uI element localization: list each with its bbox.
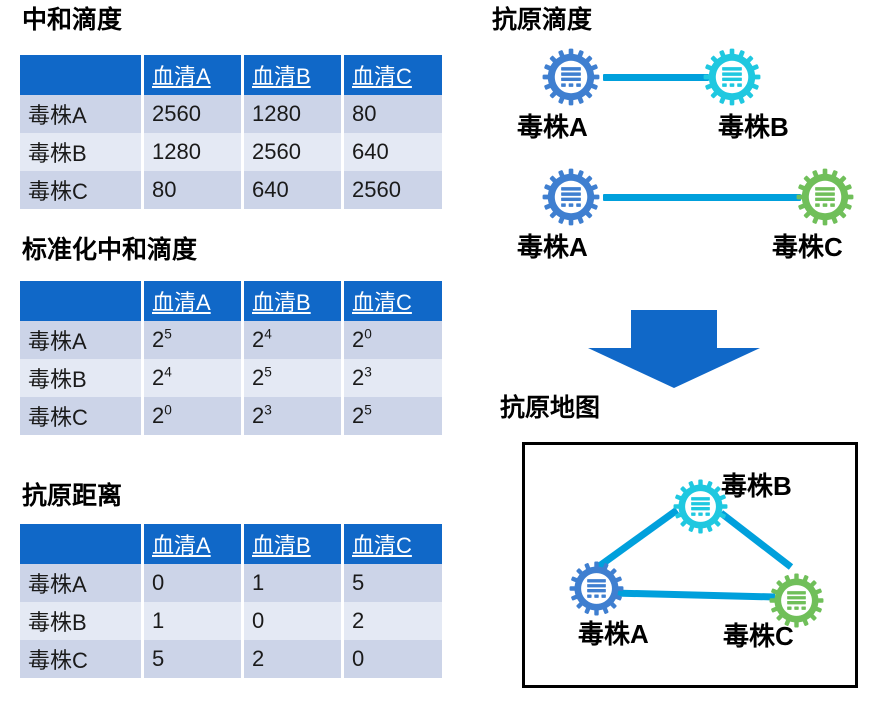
row-label-strain-c: 毒株C [20,171,144,209]
table-header-row: 血清A 血清B 血清C [20,524,442,564]
table-row: 毒株B 1 0 2 [20,602,442,640]
antigen-titer-title: 抗原滴度 [492,8,592,33]
down-arrow-icon [588,310,760,393]
column-header-label: 血清B [252,290,311,315]
cell-value: 23 [344,359,442,397]
column-header-label: 血清B [252,64,311,89]
table-header-row: 血清A 血清B 血清C [20,55,442,95]
cell-value: 2560 [344,171,442,209]
table-header-row: 血清A 血清B 血清C [20,281,442,321]
table-row: 毒株A 2560 1280 80 [20,95,442,133]
row-label-strain-a: 毒株A [20,321,144,359]
map-label-strain-a: 毒株A [578,621,649,647]
cell-value: 20 [144,397,244,435]
row-label-strain-b: 毒株B [20,133,144,171]
titer-edge-a-b [603,74,709,81]
map-edge-a-c [613,593,775,597]
table-corner-cell [20,524,144,564]
row-label-strain-b: 毒株B [20,359,144,397]
cell-value: 2 [244,640,344,678]
cell-value: 1280 [144,133,244,171]
cell-value: 80 [344,95,442,133]
table-title-neutralization: 中和滴度 [22,8,122,33]
table-neutralization-titer: 血清A 血清B 血清C 毒株A 2560 1280 80 毒株B 1280 25… [20,55,442,209]
virus-cyan-icon [703,48,761,106]
row-label-strain-b: 毒株B [20,602,144,640]
column-header-label: 血清C [352,533,412,558]
row-label-strain-a: 毒株A [20,95,144,133]
table-row: 毒株C 5 2 0 [20,640,442,678]
virus-cyan-icon [673,479,728,534]
cell-value: 5 [344,564,442,602]
column-header-serum-a: 血清A [144,55,244,95]
column-header-serum-b: 血清B [244,281,344,321]
cell-value: 2560 [244,133,344,171]
virus-blue-icon [542,168,600,226]
cell-value: 80 [144,171,244,209]
cell-value: 640 [344,133,442,171]
titer-edge-a-c [603,194,801,201]
cell-value: 0 [144,564,244,602]
row-label-strain-a: 毒株A [20,564,144,602]
table-row: 毒株B 24 25 23 [20,359,442,397]
cell-value: 0 [244,602,344,640]
map-edge-b-c [721,513,791,567]
titer-label-strain-a-2: 毒株A [517,234,588,260]
cell-value: 24 [244,321,344,359]
column-header-serum-c: 血清C [344,281,442,321]
column-header-serum-b: 血清B [244,524,344,564]
column-header-label: 血清A [152,290,211,315]
virus-green-icon [796,168,854,226]
table-antigenic-distance: 血清A 血清B 血清C 毒株A 0 1 5 毒株B 1 0 2 毒株C 5 2 … [20,524,442,678]
column-header-label: 血清C [352,64,412,89]
virus-blue-icon [542,48,600,106]
column-header-serum-c: 血清C [344,55,442,95]
map-label-strain-c: 毒株C [723,623,794,649]
cell-value: 25 [244,359,344,397]
cell-value: 2560 [144,95,244,133]
cell-value: 1280 [244,95,344,133]
virus-green-icon [769,573,824,628]
cell-value: 24 [144,359,244,397]
table-row: 毒株B 1280 2560 640 [20,133,442,171]
virus-blue-icon [569,561,624,616]
column-header-label: 血清B [252,533,311,558]
cell-value: 25 [344,397,442,435]
titer-label-strain-c: 毒株C [772,234,843,260]
antigen-map-title: 抗原地图 [500,396,600,421]
table-row: 毒株A 25 24 20 [20,321,442,359]
table-row: 毒株A 0 1 5 [20,564,442,602]
titer-label-strain-b: 毒株B [718,114,789,140]
cell-value: 640 [244,171,344,209]
cell-value: 0 [344,640,442,678]
cell-value: 1 [244,564,344,602]
table-corner-cell [20,281,144,321]
antigen-map-panel: 毒株B 毒株A 毒株C [522,442,858,688]
cell-value: 25 [144,321,244,359]
column-header-label: 血清C [352,290,412,315]
cell-value: 2 [344,602,442,640]
column-header-label: 血清A [152,64,211,89]
table-row: 毒株C 80 640 2560 [20,171,442,209]
cell-value: 1 [144,602,244,640]
column-header-serum-c: 血清C [344,524,442,564]
cell-value: 20 [344,321,442,359]
table-title-antigenic-distance: 抗原距离 [22,484,122,509]
row-label-strain-c: 毒株C [20,640,144,678]
table-title-normalized-neutralization: 标准化中和滴度 [22,238,197,263]
map-label-strain-b: 毒株B [721,473,792,499]
cell-value: 5 [144,640,244,678]
row-label-strain-c: 毒株C [20,397,144,435]
map-edge-a-b [598,510,677,567]
table-corner-cell [20,55,144,95]
cell-value: 23 [244,397,344,435]
column-header-serum-a: 血清A [144,281,244,321]
table-row: 毒株C 20 23 25 [20,397,442,435]
column-header-serum-a: 血清A [144,524,244,564]
column-header-serum-b: 血清B [244,55,344,95]
titer-label-strain-a-1: 毒株A [517,114,588,140]
column-header-label: 血清A [152,533,211,558]
table-normalized-titer: 血清A 血清B 血清C 毒株A 25 24 20 毒株B 24 25 23 毒株… [20,281,442,435]
